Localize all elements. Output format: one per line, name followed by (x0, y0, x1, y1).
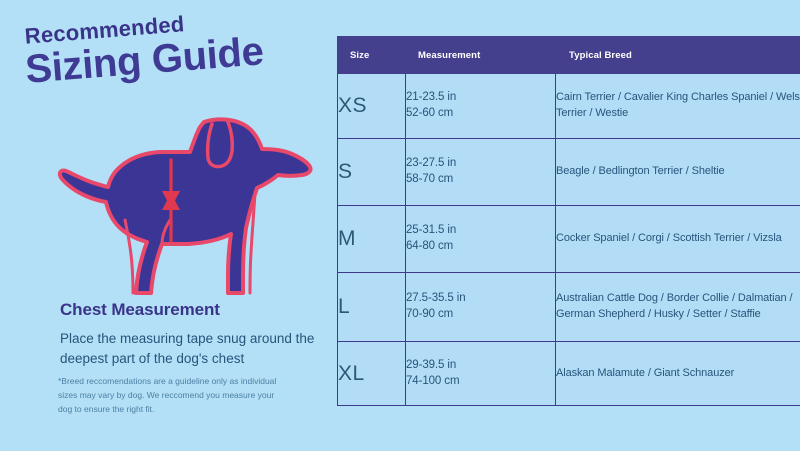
column-header-measurement: Measurement (406, 37, 556, 74)
cell-typical-breed: Australian Cattle Dog / Border Collie / … (556, 273, 800, 342)
cell-typical-breed: Cocker Spaniel / Corgi / Scottish Terrie… (556, 206, 800, 273)
cell-measurement: 29-39.5 in 74-100 cm (406, 342, 556, 406)
cell-size: M (338, 206, 406, 273)
cell-typical-breed: Beagle / Bedlington Terrier / Sheltie (556, 139, 800, 206)
table-row: L 27.5-35.5 in 70-90 cm Australian Cattl… (338, 273, 800, 342)
measurement-centimeters: 58-70 cm (406, 172, 555, 188)
measurement-inches: 23-27.5 in (406, 156, 555, 172)
measurement-inches: 25-31.5 in (406, 223, 555, 239)
sizing-guide-infographic: Recommended Sizing Guide Chest Measureme… (0, 0, 800, 451)
sizing-table: Size Measurement Typical Breed XS 21-23.… (337, 36, 800, 406)
chest-measurement-description: Place the measuring tape snug around the… (60, 329, 315, 368)
table-body: XS 21-23.5 in 52-60 cm Cairn Terrier / C… (338, 74, 800, 406)
cell-size: XS (338, 74, 406, 139)
cell-typical-breed: Cairn Terrier / Cavalier King Charles Sp… (556, 74, 800, 139)
dog-silhouette-shape (60, 119, 311, 293)
dog-illustration (52, 108, 320, 298)
cell-measurement: 25-31.5 in 64-80 cm (406, 206, 556, 273)
measurement-centimeters: 64-80 cm (406, 239, 555, 255)
column-header-size: Size (338, 37, 406, 74)
table-row: XS 21-23.5 in 52-60 cm Cairn Terrier / C… (338, 74, 800, 139)
cell-measurement: 21-23.5 in 52-60 cm (406, 74, 556, 139)
cell-size: XL (338, 342, 406, 406)
cell-size: S (338, 139, 406, 206)
measurement-inches: 21-23.5 in (406, 90, 555, 106)
cell-measurement: 27.5-35.5 in 70-90 cm (406, 273, 556, 342)
table-row: S 23-27.5 in 58-70 cm Beagle / Bedlingto… (338, 139, 800, 206)
measurement-centimeters: 70-90 cm (406, 307, 555, 323)
measurement-inches: 29-39.5 in (406, 358, 555, 374)
cell-typical-breed: Alaskan Malamute / Giant Schnauzer (556, 342, 800, 406)
table-header: Size Measurement Typical Breed (338, 37, 800, 74)
table-header-row: Size Measurement Typical Breed (338, 37, 800, 74)
measurement-centimeters: 52-60 cm (406, 106, 555, 122)
measurement-inches: 27.5-35.5 in (406, 291, 555, 307)
left-panel: Recommended Sizing Guide Chest Measureme… (0, 0, 330, 451)
title-block: Recommended Sizing Guide (22, 7, 265, 90)
table-row: XL 29-39.5 in 74-100 cm Alaskan Malamute… (338, 342, 800, 406)
column-header-typical-breed: Typical Breed (556, 37, 800, 74)
breed-disclaimer-note: *Breed reccomendations are a guideline o… (58, 375, 283, 416)
table-row: M 25-31.5 in 64-80 cm Cocker Spaniel / C… (338, 206, 800, 273)
cell-size: L (338, 273, 406, 342)
cell-measurement: 23-27.5 in 58-70 cm (406, 139, 556, 206)
chest-measurement-heading: Chest Measurement (60, 300, 220, 320)
measurement-centimeters: 74-100 cm (406, 374, 555, 390)
